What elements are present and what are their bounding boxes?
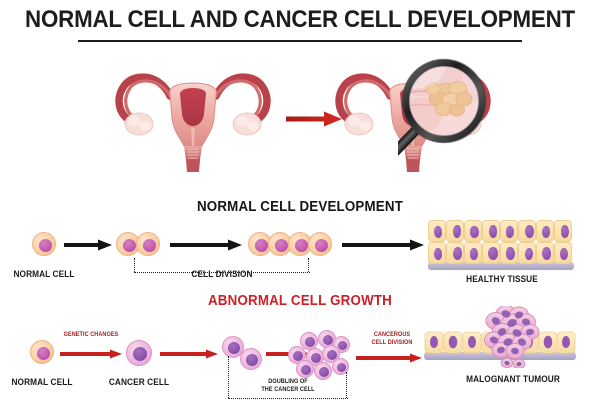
tissue-cell bbox=[500, 242, 518, 264]
tissue-cell-nucleus bbox=[542, 226, 550, 238]
tissue-cell-nucleus bbox=[470, 226, 479, 238]
cancer-cell-label: CANCER CELL bbox=[107, 377, 172, 387]
tissue-cell-nucleus bbox=[470, 248, 478, 260]
cancer-cell-nucleus bbox=[323, 335, 333, 345]
normal-cell bbox=[30, 340, 54, 364]
normal-cell-development-heading: NORMAL CELL DEVELOPMENT bbox=[144, 199, 457, 215]
infographic-poster: NORMAL CELL AND CANCER CELL DEVELOPMENT bbox=[0, 0, 600, 414]
tissue-cell bbox=[482, 242, 500, 264]
abnormal-cell-growth-heading: ABNORMAL CELL GROWTH bbox=[162, 293, 438, 309]
tissue-cell-nucleus bbox=[525, 225, 534, 238]
tissue-cell-nucleus bbox=[453, 247, 462, 260]
cell-nucleus bbox=[295, 239, 308, 252]
left-ovary bbox=[125, 113, 153, 135]
doubling-label-line1: DOUBLING OF bbox=[241, 379, 335, 386]
tissue-cell bbox=[536, 242, 554, 264]
doubling-label-line2: THE CANCER CELL bbox=[241, 387, 335, 394]
abnormal-arrow-2 bbox=[160, 346, 218, 356]
tissue-cell bbox=[554, 242, 572, 264]
tissue-cell-nucleus bbox=[434, 248, 442, 260]
tissue-cell-nucleus bbox=[560, 248, 568, 260]
tissue-cell bbox=[554, 220, 572, 242]
cell-nucleus bbox=[39, 239, 52, 252]
tissue-cell bbox=[464, 220, 482, 242]
cancer-cell bbox=[126, 340, 152, 366]
cell-nucleus bbox=[275, 239, 288, 252]
cancerous-division-label-line2: CELL DIVISION bbox=[361, 340, 422, 347]
tissue-cell bbox=[536, 220, 554, 242]
tissue-cell-nucleus bbox=[561, 225, 569, 238]
healthy-tissue-block bbox=[428, 220, 574, 272]
genetic-changes-label: GENETIC CHANGES bbox=[58, 332, 125, 339]
cell-nucleus bbox=[37, 347, 50, 360]
malignant-tumour-block bbox=[424, 306, 576, 368]
cancer-cell-nucleus bbox=[338, 341, 347, 350]
tissue-cell-nucleus bbox=[542, 247, 551, 260]
cell-nucleus bbox=[315, 239, 328, 252]
cell-nucleus bbox=[255, 239, 268, 252]
tissue-cell-nucleus bbox=[506, 226, 514, 238]
cancer-cell-nucleus bbox=[305, 337, 315, 347]
cancer-cell-nucleus bbox=[228, 342, 240, 354]
tissue-cell-nucleus bbox=[434, 226, 442, 238]
tissue-cell bbox=[464, 242, 482, 264]
right-ovary bbox=[233, 113, 261, 135]
magnifying-glass bbox=[398, 55, 510, 177]
cell-division-label: CELL DIVISION bbox=[172, 269, 273, 279]
cancer-cell-nucleus bbox=[133, 347, 147, 361]
abnormal-normal-cell-label: NORMAL CELL bbox=[10, 377, 75, 387]
normal-cell bbox=[136, 232, 160, 256]
normal-cell bbox=[308, 232, 332, 256]
abnormal-arrow-1 bbox=[60, 346, 122, 356]
tissue-cell bbox=[428, 220, 446, 242]
tissue-cell-nucleus bbox=[489, 225, 497, 238]
tissue-cell bbox=[518, 242, 536, 264]
tissue-cell bbox=[482, 220, 500, 242]
tissue-cell bbox=[428, 242, 446, 264]
normal-arrow-1 bbox=[64, 238, 112, 250]
tissue-cell bbox=[518, 220, 536, 242]
normal-uterus-illustration bbox=[98, 52, 288, 172]
cell-nucleus bbox=[143, 239, 156, 252]
normal-cell-label: NORMAL CELL bbox=[12, 269, 77, 279]
normal-cell bbox=[32, 232, 56, 256]
malignant-tumour-label: MALOGNANT TUMOUR bbox=[449, 374, 577, 384]
page-title: NORMAL CELL AND CANCER CELL DEVELOPMENT bbox=[21, 6, 579, 34]
tissue-cell-nucleus bbox=[488, 247, 498, 260]
abnormal-arrow-4 bbox=[356, 350, 422, 360]
title-divider bbox=[78, 40, 522, 42]
tissue-cell-nucleus bbox=[453, 225, 461, 238]
tissue-cell bbox=[500, 220, 518, 242]
healthy-tissue-label: HEALTHY TISSUE bbox=[452, 274, 553, 284]
tissue-cell-nucleus bbox=[525, 248, 533, 260]
cell-nucleus bbox=[123, 239, 136, 252]
normal-arrow-2 bbox=[170, 238, 242, 250]
tissue-cell bbox=[446, 220, 464, 242]
normal-arrow-3 bbox=[342, 238, 424, 250]
tissue-cell-nucleus bbox=[506, 247, 515, 260]
cancerous-division-label-line1: CANCEROUS bbox=[361, 332, 422, 339]
tissue-cell bbox=[446, 242, 464, 264]
